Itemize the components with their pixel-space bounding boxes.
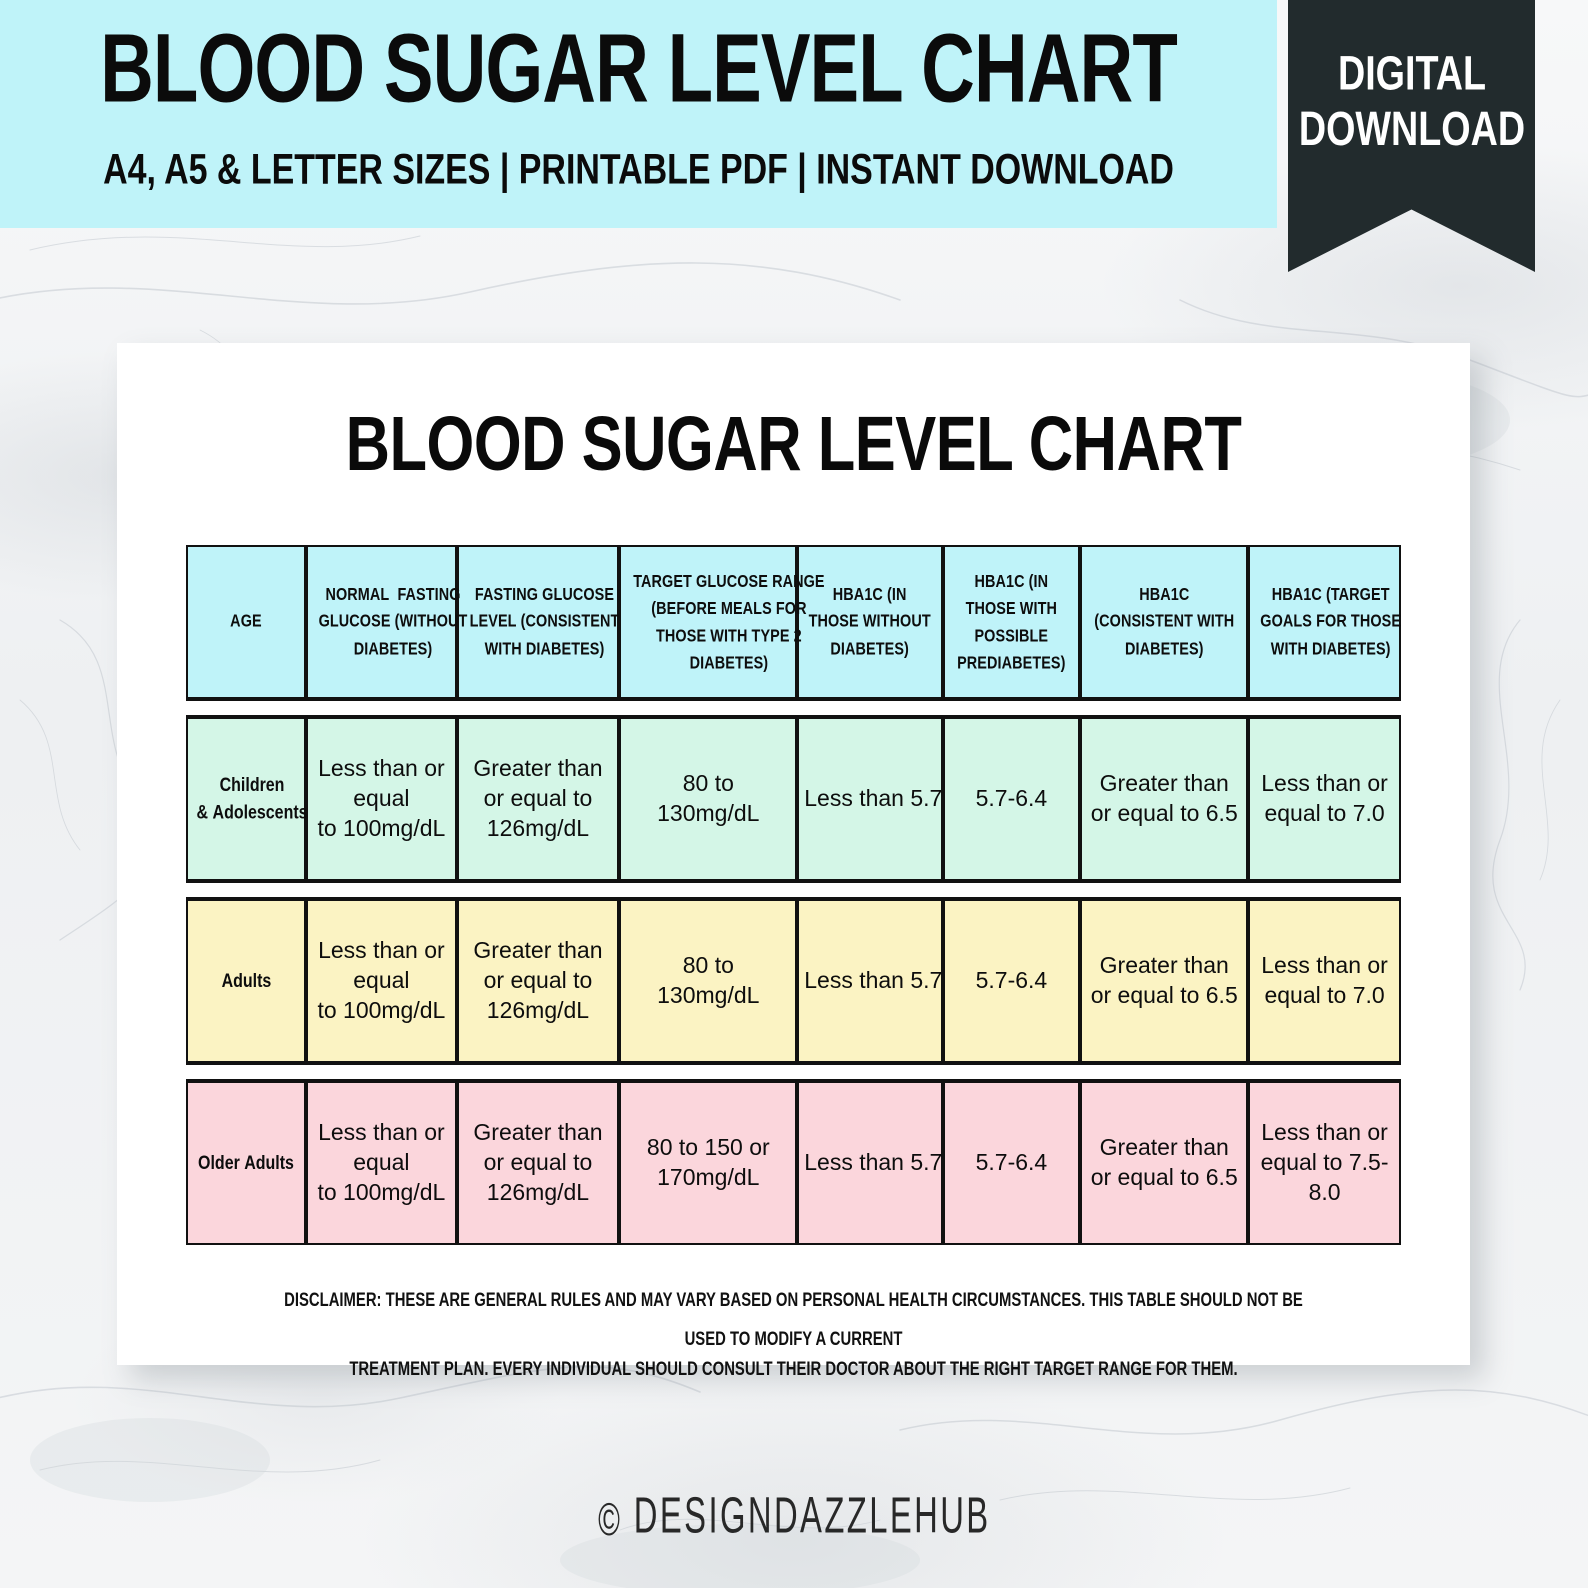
- row-divider: [1248, 699, 1401, 717]
- row-divider: [943, 699, 1081, 717]
- row-divider: [1248, 1063, 1401, 1081]
- row-divider: [943, 881, 1081, 899]
- table-cell-fasting: Greater thanor equal to126mg/dL: [457, 899, 620, 1063]
- row-divider: [797, 881, 942, 899]
- ribbon-line-2: DOWNLOAD: [1298, 102, 1524, 158]
- column-header-label: NORMAL FASTINGGLUCOSE (WITHOUTDIABETES): [319, 582, 468, 663]
- disclaimer-text: DISCLAIMER: THESE ARE GENERAL RULES AND …: [209, 1287, 1378, 1386]
- column-header-hba1c_goal: HBA1C (TARGETGOALS FOR THOSEWITH DIABETE…: [1248, 545, 1401, 699]
- row-divider: [457, 881, 620, 899]
- table-row-spacer: [186, 699, 1401, 717]
- table-cell-normal: Less than orequalto 100mg/dL: [306, 899, 456, 1063]
- column-header-label: HBA1C (TARGETGOALS FOR THOSEWITH DIABETE…: [1260, 582, 1401, 663]
- row-divider: [306, 881, 456, 899]
- row-divider: [1080, 699, 1248, 717]
- footer-watermark: © DESIGNDAZZLEHUB: [0, 1492, 1588, 1540]
- row-divider: [797, 1063, 942, 1081]
- table-cell-hba1c_goal: Less than orequal to 7.0: [1248, 899, 1401, 1063]
- table-cell-target: 80 to 150 or170mg/dL: [619, 1081, 797, 1245]
- brand-name: DESIGNDAZZLEHUB: [633, 1486, 990, 1544]
- ribbon-label: DIGITAL DOWNLOAD: [1298, 46, 1524, 157]
- table-row-spacer: [186, 1063, 1401, 1081]
- row-age-text: Children& Adolescents: [197, 772, 308, 827]
- chart-title: BLOOD SUGAR LEVEL CHART: [144, 405, 1443, 482]
- column-header-label: HBA1C(CONSISTENT WITHDIABETES): [1094, 582, 1234, 663]
- row-age-text: Adults: [221, 967, 271, 994]
- table-cell-hba1c_pre: 5.7-6.4: [943, 899, 1081, 1063]
- row-divider: [619, 881, 797, 899]
- column-header-age: AGE: [186, 545, 306, 699]
- table-row: Children& AdolescentsLess than orequalto…: [186, 717, 1401, 881]
- row-divider: [306, 699, 456, 717]
- table-cell-hba1c_no: Less than 5.7: [797, 1081, 942, 1245]
- row-divider: [797, 699, 942, 717]
- table-cell-target: 80 to130mg/dL: [619, 717, 797, 881]
- table-cell-hba1c_dia: Greater thanor equal to 6.5: [1080, 1081, 1248, 1245]
- row-divider: [186, 699, 306, 717]
- row-age-label: Adults: [186, 899, 306, 1063]
- table-cell-hba1c_goal: Less than orequal to 7.0: [1248, 717, 1401, 881]
- column-header-label: AGE: [230, 609, 262, 636]
- row-divider: [1080, 1063, 1248, 1081]
- blood-sugar-table-wrapper: AGENORMAL FASTINGGLUCOSE (WITHOUTDIABETE…: [186, 545, 1401, 1245]
- column-header-fasting: FASTING GLUCOSELEVEL (CONSISTENTWITH DIA…: [457, 545, 620, 699]
- promo-banner: BLOOD SUGAR LEVEL CHART A4, A5 & LETTER …: [0, 0, 1277, 228]
- row-divider: [943, 1063, 1081, 1081]
- table-row: Older AdultsLess than orequalto 100mg/dL…: [186, 1081, 1401, 1245]
- table-cell-target: 80 to130mg/dL: [619, 899, 797, 1063]
- row-divider: [619, 699, 797, 717]
- row-divider: [1080, 881, 1248, 899]
- column-header-hba1c_pre: HBA1C (INTHOSE WITHPOSSIBLEPREDIABETES): [943, 545, 1081, 699]
- row-age-text: Older Adults: [198, 1149, 294, 1176]
- promo-subtitle: A4, A5 & LETTER SIZES | PRINTABLE PDF | …: [19, 148, 1258, 191]
- column-header-target: TARGET GLUCOSE RANGE(BEFORE MEALS FORTHO…: [619, 545, 797, 699]
- row-age-label: Children& Adolescents: [186, 717, 306, 881]
- column-header-label: HBA1C (INTHOSE WITHPOSSIBLEPREDIABETES): [957, 568, 1065, 676]
- table-cell-hba1c_pre: 5.7-6.4: [943, 1081, 1081, 1245]
- row-divider: [457, 1063, 620, 1081]
- row-divider: [619, 1063, 797, 1081]
- row-divider: [186, 881, 306, 899]
- column-header-label: FASTING GLUCOSELEVEL (CONSISTENTWITH DIA…: [469, 582, 619, 663]
- table-cell-hba1c_dia: Greater thanor equal to 6.5: [1080, 899, 1248, 1063]
- column-header-normal: NORMAL FASTINGGLUCOSE (WITHOUTDIABETES): [306, 545, 456, 699]
- column-header-label: HBA1C (INTHOSE WITHOUTDIABETES): [809, 582, 931, 663]
- row-divider: [306, 1063, 456, 1081]
- blood-sugar-table: AGENORMAL FASTINGGLUCOSE (WITHOUTDIABETE…: [186, 545, 1401, 1245]
- column-header-label: TARGET GLUCOSE RANGE(BEFORE MEALS FORTHO…: [634, 568, 825, 676]
- row-divider: [457, 699, 620, 717]
- table-cell-hba1c_goal: Less than orequal to 7.5-8.0: [1248, 1081, 1401, 1245]
- row-divider: [186, 1063, 306, 1081]
- promo-title: BLOOD SUGAR LEVEL CHART: [45, 20, 1233, 118]
- table-cell-fasting: Greater thanor equal to126mg/dL: [457, 717, 620, 881]
- table-cell-normal: Less than orequalto 100mg/dL: [306, 717, 456, 881]
- column-header-hba1c_dia: HBA1C(CONSISTENT WITHDIABETES): [1080, 545, 1248, 699]
- chart-card: BLOOD SUGAR LEVEL CHART AGENORMAL FASTIN…: [117, 343, 1470, 1365]
- table-row-spacer: [186, 881, 1401, 899]
- table-cell-hba1c_dia: Greater thanor equal to 6.5: [1080, 717, 1248, 881]
- copyright-icon: ©: [598, 1494, 622, 1545]
- ribbon-line-1: DIGITAL: [1298, 46, 1524, 102]
- table-cell-hba1c_pre: 5.7-6.4: [943, 717, 1081, 881]
- disclaimer-line-1: DISCLAIMER: THESE ARE GENERAL RULES AND …: [267, 1281, 1319, 1359]
- table-row: AdultsLess than orequalto 100mg/dLGreate…: [186, 899, 1401, 1063]
- table-cell-hba1c_no: Less than 5.7: [797, 717, 942, 881]
- row-divider: [1248, 881, 1401, 899]
- table-cell-fasting: Greater thanor equal to126mg/dL: [457, 1081, 620, 1245]
- table-cell-hba1c_no: Less than 5.7: [797, 899, 942, 1063]
- table-cell-normal: Less than orequalto 100mg/dL: [306, 1081, 456, 1245]
- row-age-label: Older Adults: [186, 1081, 306, 1245]
- table-header-row: AGENORMAL FASTINGGLUCOSE (WITHOUTDIABETE…: [186, 545, 1401, 699]
- disclaimer-line-2: TREATMENT PLAN. EVERY INDIVIDUAL SHOULD …: [349, 1350, 1237, 1389]
- brand-lockup: © DESIGNDAZZLEHUB: [598, 1486, 991, 1546]
